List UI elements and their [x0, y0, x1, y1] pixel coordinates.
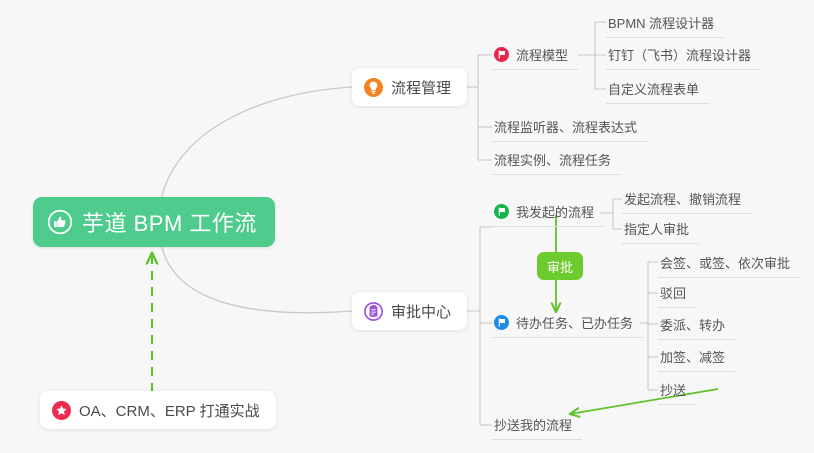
- node-start-cancel-label: 发起流程、撤销流程: [624, 189, 741, 208]
- branch-process-management[interactable]: 流程管理: [352, 68, 467, 106]
- node-instance-task-label: 流程实例、流程任务: [494, 150, 611, 169]
- node-custom-process-form[interactable]: 自定义流程表单: [606, 74, 709, 104]
- node-listener-expression-label: 流程监听器、流程表达式: [494, 117, 637, 136]
- node-my-initiated[interactable]: 我发起的流程: [492, 197, 604, 227]
- node-start-cancel[interactable]: 发起流程、撤销流程: [622, 184, 751, 214]
- approval-badge-label: 审批: [547, 257, 573, 276]
- clipboard-circle-icon: [364, 302, 383, 321]
- node-cc-my-process-label: 抄送我的流程: [494, 415, 572, 434]
- node-custom-process-form-label: 自定义流程表单: [608, 79, 699, 98]
- mindmap-canvas: 芋道 BPM 工作流 流程管理 流程模型 BPMN 流程设计器 钉钉（飞书: [0, 0, 814, 453]
- node-bpmn-designer[interactable]: BPMN 流程设计器: [606, 8, 724, 38]
- node-bpmn-designer-label: BPMN 流程设计器: [608, 13, 714, 32]
- node-instance-task[interactable]: 流程实例、流程任务: [492, 145, 621, 175]
- root-node[interactable]: 芋道 BPM 工作流: [33, 197, 275, 247]
- branch-approval-center[interactable]: 审批中心: [352, 292, 467, 330]
- node-add-remove-sign[interactable]: 加签、减签: [658, 342, 735, 372]
- flag-circle-icon: [494, 204, 509, 219]
- node-cc[interactable]: 抄送: [658, 375, 696, 405]
- node-assignee-approval-label: 指定人审批: [624, 219, 689, 238]
- node-multi-sign-label: 会签、或签、依次审批: [660, 253, 790, 272]
- node-delegate-transfer-label: 委派、转办: [660, 315, 725, 334]
- thumbs-up-circle-icon: [47, 209, 73, 235]
- node-my-initiated-label: 我发起的流程: [516, 202, 594, 221]
- node-dingtalk-feishu-designer-label: 钉钉（飞书）流程设计器: [608, 45, 751, 64]
- branch-process-management-label: 流程管理: [391, 77, 451, 98]
- node-process-model-label: 流程模型: [516, 45, 568, 64]
- node-reject-label: 驳回: [660, 283, 686, 302]
- wire-root-to-process-management: [160, 87, 352, 208]
- root-label: 芋道 BPM 工作流: [82, 206, 257, 238]
- node-delegate-transfer[interactable]: 委派、转办: [658, 310, 735, 340]
- node-cc-label: 抄送: [660, 380, 686, 399]
- node-dingtalk-feishu-designer[interactable]: 钉钉（飞书）流程设计器: [606, 40, 761, 70]
- star-circle-icon: [52, 401, 71, 420]
- branch-approval-center-label: 审批中心: [391, 301, 451, 322]
- flag-circle-icon: [494, 315, 509, 330]
- bulb-circle-icon: [364, 78, 383, 97]
- node-process-model[interactable]: 流程模型: [492, 40, 578, 70]
- node-todo-done[interactable]: 待办任务、已办任务: [492, 308, 643, 338]
- node-reject[interactable]: 驳回: [658, 278, 696, 308]
- node-listener-expression[interactable]: 流程监听器、流程表达式: [492, 112, 647, 142]
- node-multi-sign[interactable]: 会签、或签、依次审批: [658, 248, 800, 278]
- node-todo-done-label: 待办任务、已办任务: [516, 313, 633, 332]
- wire-root-to-approval-center: [160, 236, 352, 313]
- node-add-remove-sign-label: 加签、减签: [660, 347, 725, 366]
- flag-circle-icon: [494, 47, 509, 62]
- node-assignee-approval[interactable]: 指定人审批: [622, 214, 699, 244]
- node-cc-my-process[interactable]: 抄送我的流程: [492, 410, 582, 440]
- integration-callout[interactable]: OA、CRM、ERP 打通实战: [40, 391, 276, 429]
- integration-callout-label: OA、CRM、ERP 打通实战: [79, 400, 260, 421]
- approval-badge[interactable]: 审批: [537, 252, 583, 280]
